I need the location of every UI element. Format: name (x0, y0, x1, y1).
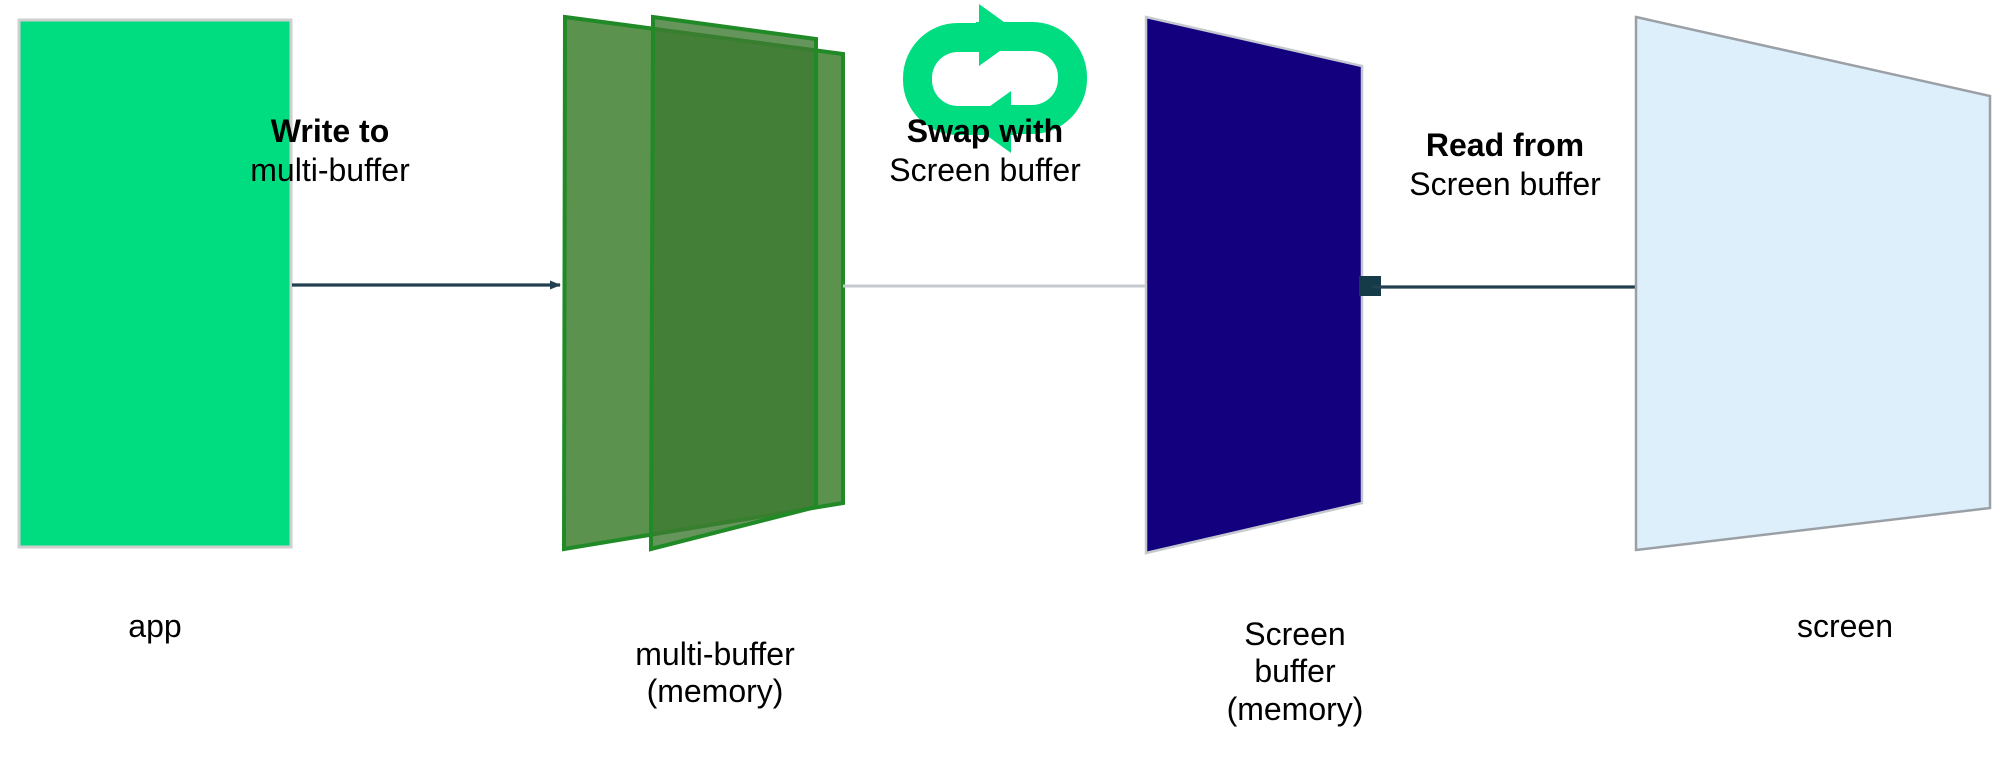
edge-label-read-from: Read from Screen buffer (1355, 126, 1655, 204)
node-label-screen: screen (1700, 608, 1990, 645)
node-screen-buffer[interactable] (1146, 17, 1362, 553)
node-label-screen-line-1: screen (1700, 608, 1990, 645)
node-label-multi-buffer: multi-buffer (memory) (545, 636, 885, 711)
screen-shape (1636, 17, 1990, 550)
node-label-multi-buffer-line-2: (memory) (545, 673, 885, 710)
node-multi-buffer[interactable] (564, 17, 843, 549)
app-rect (19, 20, 291, 547)
node-app[interactable] (19, 20, 291, 547)
node-label-app: app (20, 608, 290, 645)
node-label-screen-buffer-line-1: Screen (1140, 616, 1450, 653)
node-label-app-line-1: app (20, 608, 290, 645)
edge-label-write-to-text: multi-buffer (180, 151, 480, 190)
diagram-canvas: Write to multi-buffer Swap with Screen b… (0, 0, 1999, 771)
multi-buffer-plane-front (651, 17, 816, 549)
node-label-multi-buffer-line-1: multi-buffer (545, 636, 885, 673)
node-screen[interactable] (1636, 17, 1990, 550)
edge-label-swap-bold: Swap with (835, 112, 1135, 151)
edge-label-write-to-bold: Write to (180, 112, 480, 151)
node-label-screen-buffer-line-3: (memory) (1140, 691, 1450, 728)
edge-read-from[interactable] (1359, 276, 1636, 296)
edge-label-swap-text: Screen buffer (835, 151, 1135, 190)
edge-label-read-from-text: Screen buffer (1355, 165, 1655, 204)
edge-label-write-to: Write to multi-buffer (180, 112, 480, 190)
edge-label-read-from-bold: Read from (1355, 126, 1655, 165)
screen-buffer-shape (1146, 17, 1362, 553)
node-label-screen-buffer-line-2: buffer (1140, 653, 1450, 690)
edge-label-swap: Swap with Screen buffer (835, 112, 1135, 190)
node-label-screen-buffer: Screen buffer (memory) (1140, 616, 1450, 728)
